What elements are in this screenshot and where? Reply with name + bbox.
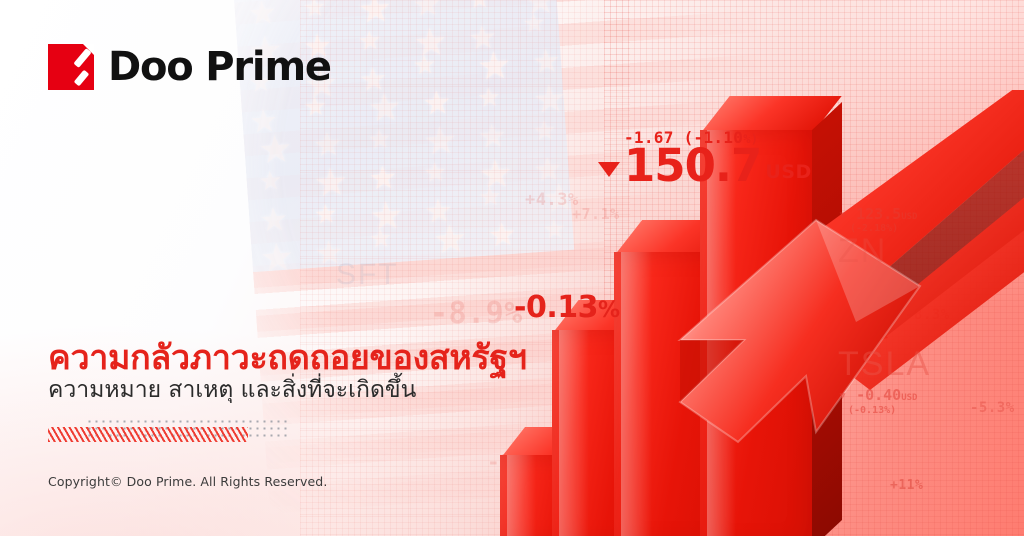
brand-name: Doo Prime	[108, 44, 331, 90]
logo-slash-lower	[74, 70, 90, 87]
doo-prime-logo-mark	[48, 44, 94, 90]
copyright-text: Copyright© Doo Prime. All Rights Reserve…	[48, 474, 327, 489]
promo-banner: ★★★★★★★★★★★★★★★★★★★★★★★★★★★★★★★★★★★★★★★★…	[0, 0, 1024, 536]
price-quote: -1.67 (-1.10%) 150.7 USD	[598, 128, 812, 188]
bar-gloss	[559, 330, 589, 536]
tsla-symbol: TSLA	[838, 345, 931, 384]
bar-change-value: -0.13	[514, 290, 598, 325]
amzn-price-row: ▾ 123.5USD	[838, 205, 917, 223]
amzn-price: 123.5	[856, 205, 901, 223]
bar-gloss	[507, 455, 536, 536]
page-subtitle: ความหมาย สาเหตุ และสิ่งที่จะเกิดขึ้น	[48, 372, 416, 408]
tsla-change-pct: (-0.13%)	[848, 405, 931, 416]
brand-logo[interactable]: Doo Prime	[48, 44, 331, 90]
decorative-hatch-bar	[48, 427, 248, 442]
tsla-change-row: ▾ -0.40USD	[838, 386, 931, 404]
ticker-tsla: TSLA ▾ -0.40USD (-0.13%)	[838, 345, 931, 416]
price-value: 150.7	[624, 145, 761, 188]
tsla-change: -0.40	[856, 386, 901, 404]
triangle-down-icon	[598, 162, 620, 177]
logo-slash-upper	[73, 48, 91, 68]
tsla-currency: USD	[901, 393, 917, 403]
bar-change-percent-symbol: %	[598, 298, 620, 323]
msft-symbol: SFT	[336, 258, 399, 292]
bar-change-label: -0.13%	[514, 290, 620, 325]
ticker-amzn: ▾ 123.5USD (-2.18%) ZN	[838, 205, 917, 271]
amzn-symbol: ZN	[838, 232, 917, 271]
price-currency: USD	[765, 161, 811, 183]
decorative-divider	[48, 418, 288, 444]
amzn-currency: USD	[901, 212, 917, 222]
price-row: 150.7 USD	[598, 145, 812, 188]
